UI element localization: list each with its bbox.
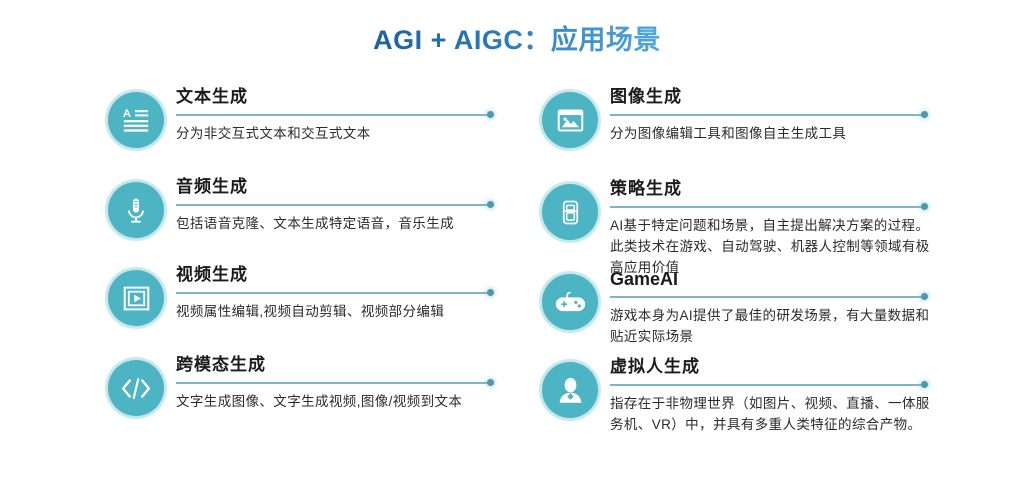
rule-end-dot xyxy=(487,289,494,296)
rule-end-dot xyxy=(487,111,494,118)
code-brackets-icon xyxy=(108,360,164,416)
scenario-icon-badge xyxy=(104,356,168,420)
rule-line xyxy=(176,114,492,116)
scenario-body: 虚拟人生成指存在于非物理世界（如图片、视频、直播、一体服务机、VR）中，并具有多… xyxy=(610,356,958,435)
rule-end-dot xyxy=(921,203,928,210)
video-play-icon xyxy=(108,270,164,326)
scenario-body: 文本生成分为非交互式文本和交互式文本 xyxy=(176,86,524,144)
scenario-body: 跨模态生成文字生成图像、文字生成视频,图像/视频到文本 xyxy=(176,354,524,412)
scenario-icon-badge xyxy=(104,266,168,330)
rule-line xyxy=(176,382,492,384)
scenario-title: 策略生成 xyxy=(610,178,958,200)
scenario-rule xyxy=(176,111,492,119)
scenario-description: 分为非交互式文本和交互式文本 xyxy=(176,123,506,144)
scenario-rule xyxy=(176,379,492,387)
scenario-icon-badge xyxy=(104,178,168,242)
text-document-icon: A xyxy=(108,92,164,148)
scenario-title: GameAI xyxy=(610,268,958,290)
scenario-rule xyxy=(610,293,926,301)
scenario-rule xyxy=(176,289,492,297)
scenario-description: 分为图像编辑工具和图像自主生成工具 xyxy=(610,123,940,144)
rule-line xyxy=(610,206,926,208)
scenario-rule xyxy=(176,201,492,209)
scenario-body: 音频生成包括语音克隆、文本生成特定语音，音乐生成 xyxy=(176,176,524,234)
scenario-body: 策略生成AI基于特定问题和场景，自主提出解决方案的过程。此类技术在游戏、自动驾驶… xyxy=(610,178,958,278)
rule-line xyxy=(610,296,926,298)
scenario-rule xyxy=(610,111,926,119)
page-title: AGI + AIGC：应用场景 xyxy=(373,18,661,57)
scenario-title: 视频生成 xyxy=(176,264,524,286)
scenario-title: 跨模态生成 xyxy=(176,354,524,376)
rule-end-dot xyxy=(921,381,928,388)
scenario-description: 指存在于非物理世界（如图片、视频、直播、一体服务机、VR）中，并具有多重人类特征… xyxy=(610,393,940,435)
rule-line xyxy=(610,384,926,386)
title-container: AGI + AIGC：应用场景 xyxy=(0,18,1034,57)
scenario-icon-badge xyxy=(538,180,602,244)
scenario-description: 文字生成图像、文字生成视频,图像/视频到文本 xyxy=(176,391,506,412)
rule-line xyxy=(176,204,492,206)
rule-end-dot xyxy=(921,111,928,118)
scenario-title: 虚拟人生成 xyxy=(610,356,958,378)
scenario-icon-badge xyxy=(538,358,602,422)
slide-canvas: AGI + AIGC：应用场景 A文本生成分为非交互式文本和交互式文本音频生成包… xyxy=(0,0,1034,500)
scenario-icon-badge xyxy=(538,270,602,334)
microphone-icon xyxy=(108,182,164,238)
scenario-title: 图像生成 xyxy=(610,86,958,108)
svg-text:A: A xyxy=(123,108,131,120)
scenario-description: 游戏本身为AI提供了最佳的研发场景，有大量数据和贴近实际场景 xyxy=(610,305,940,347)
scenario-description: 视频属性编辑,视频自动剪辑、视频部分编辑 xyxy=(176,301,506,322)
scenario-title: 文本生成 xyxy=(176,86,524,108)
avatar-person-icon xyxy=(542,362,598,418)
scenario-icon-badge xyxy=(538,88,602,152)
scenario-icon-badge: A xyxy=(104,88,168,152)
scenario-body: GameAI游戏本身为AI提供了最佳的研发场景，有大量数据和贴近实际场景 xyxy=(610,268,958,347)
rule-line xyxy=(176,292,492,294)
image-picture-icon xyxy=(542,92,598,148)
rule-end-dot xyxy=(921,293,928,300)
rule-end-dot xyxy=(487,379,494,386)
strategy-book-icon xyxy=(542,184,598,240)
rule-line xyxy=(610,114,926,116)
scenario-rule xyxy=(610,203,926,211)
scenario-description: 包括语音克隆、文本生成特定语音，音乐生成 xyxy=(176,213,506,234)
scenario-rule xyxy=(610,381,926,389)
gamepad-icon xyxy=(542,274,598,330)
scenario-title: 音频生成 xyxy=(176,176,524,198)
rule-end-dot xyxy=(487,201,494,208)
scenario-body: 视频生成视频属性编辑,视频自动剪辑、视频部分编辑 xyxy=(176,264,524,322)
scenario-body: 图像生成分为图像编辑工具和图像自主生成工具 xyxy=(610,86,958,144)
